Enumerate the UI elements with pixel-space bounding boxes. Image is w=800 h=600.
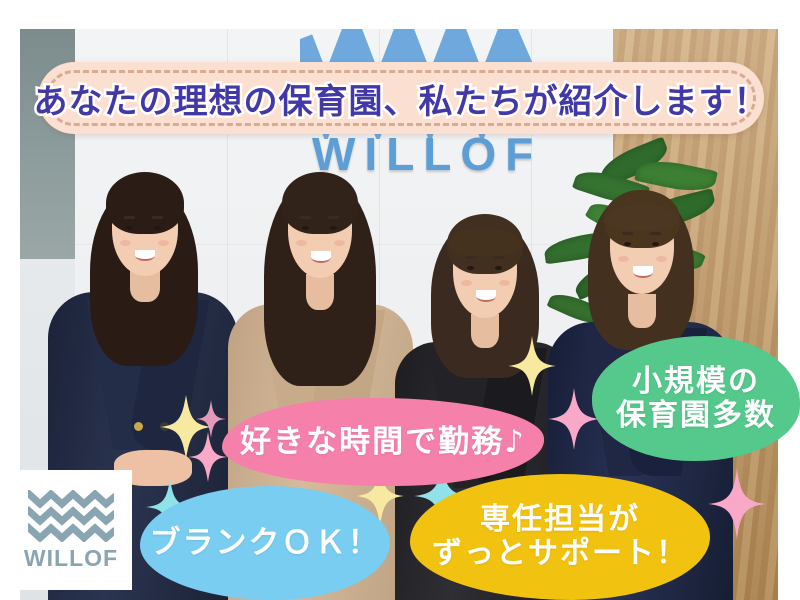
willof-zigzag-icon [28, 490, 114, 542]
sparkle-icon [196, 400, 226, 438]
bubble-line: 保育園多数 [616, 399, 776, 433]
bubble-dedicated-support: 専任担当が ずっとサポート！ [410, 474, 710, 600]
headline-text: あなたの理想の保育園、私たちが紹介します！ [34, 74, 769, 123]
bubble-line: ずっとサポート！ [432, 537, 688, 571]
willof-logo-card: WILLOF [10, 470, 132, 590]
bubble-small-nursery: 小規模の 保育園多数 [592, 336, 800, 461]
willof-wordmark: WILLOF [24, 547, 118, 570]
sparkle-icon [708, 468, 766, 540]
bubble-flexible-hours: 好きな時間で勤務♪ [222, 398, 544, 486]
sparkle-icon [508, 336, 556, 396]
bubble-line: 小規模の [632, 365, 760, 399]
bubble-blank-ok: ブランクＯＫ！ [140, 486, 390, 600]
sparkle-icon [188, 432, 228, 482]
banner-canvas: WILLOF [0, 0, 800, 600]
bubble-line: 好きな時間で勤務♪ [240, 425, 526, 460]
bubble-line: ブランクＯＫ！ [150, 526, 381, 561]
headline-banner: あなたの理想の保育園、私たちが紹介します！ [38, 62, 764, 134]
bubble-line: 専任担当が [480, 503, 640, 537]
